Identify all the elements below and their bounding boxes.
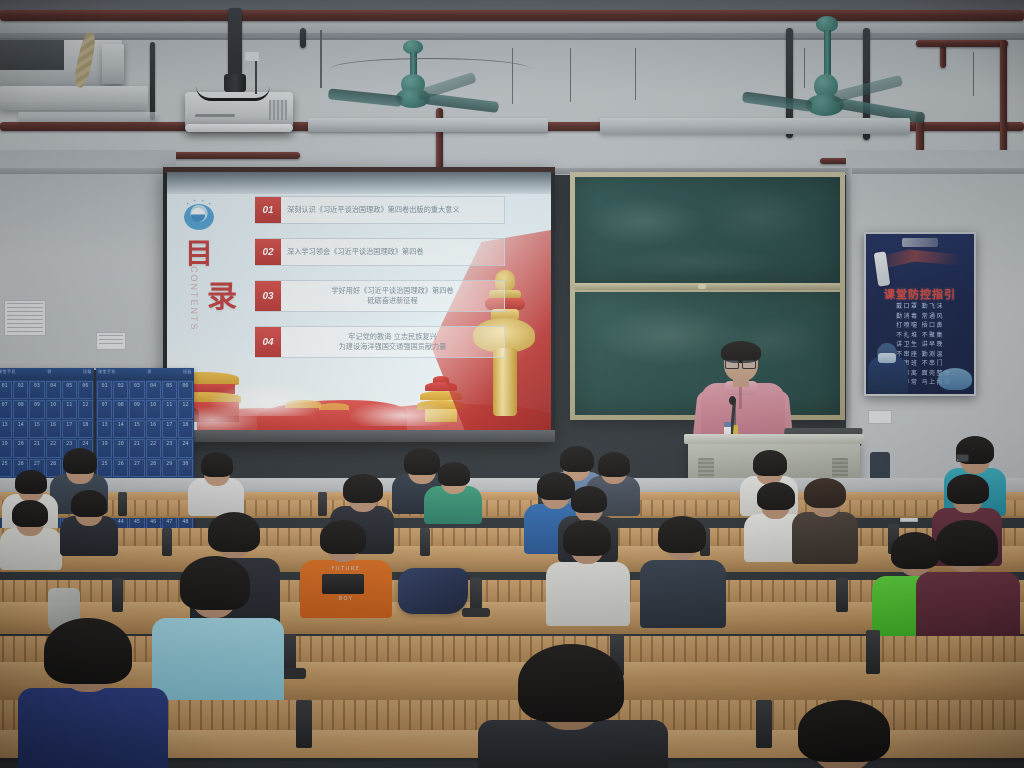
phone-pocket-cell[interactable]: 18 — [78, 420, 93, 438]
student-18-shirt-print — [322, 574, 364, 594]
student-05-hair — [438, 462, 470, 486]
lamp-hanger-3 — [635, 48, 636, 100]
student-01-hair — [63, 448, 97, 474]
student-11 — [60, 490, 118, 550]
seat-post-r5-2 — [756, 700, 772, 748]
pocket-header-right-text: 班级 — [183, 369, 192, 375]
student-05 — [424, 462, 482, 518]
toc-item-02: 02 深入学习领会《习近平谈治国理政》第四卷 — [255, 238, 505, 266]
phone-pocket-cell[interactable]: 20 — [13, 439, 28, 457]
lecturer-shirt-placket — [739, 387, 742, 409]
university-emblem: ✦ ✦ ✦ ✦ — [181, 198, 215, 232]
lamp-hanger-2 — [570, 48, 571, 102]
pocket-header-right-text: 班级 — [83, 369, 92, 375]
seat-post-r4-3 — [866, 630, 880, 674]
notice-text-lines — [99, 335, 123, 347]
emblem-star-3: ✦ — [201, 199, 204, 202]
eyeglasses-icon — [725, 360, 756, 367]
phone-pocket-cell[interactable]: 04 — [46, 381, 61, 399]
cloud-wisp-2 — [347, 400, 457, 426]
toc-number-01: 01 — [255, 197, 281, 223]
phone-pocket-cell[interactable]: 14 — [113, 420, 128, 438]
student-18: FUTURE BOY — [300, 520, 392, 610]
toc-number-03: 03 — [255, 281, 281, 311]
lamp-hanger-5 — [973, 52, 974, 96]
phone-pocket-cell[interactable]: 11 — [62, 400, 77, 418]
student-25-body — [18, 688, 168, 768]
phone-pocket-cell[interactable]: 16 — [146, 420, 161, 438]
chalk-smudge-2 — [705, 187, 815, 247]
phone-pocket-cell[interactable]: 07 — [97, 400, 112, 418]
phone-pocket-cell[interactable]: 05 — [62, 381, 77, 399]
phone-pocket-cell[interactable]: 12 — [178, 400, 193, 418]
pocket-header-center-text: 袋 — [147, 369, 152, 375]
student-21 — [640, 516, 726, 620]
student-14-hair — [571, 486, 607, 513]
poster-line-1: 戴口罩 勤飞沫 — [866, 302, 974, 312]
toc-text-02: 深入学习领会《习近平谈治国理政》第四卷 — [281, 247, 504, 257]
phone-pocket-cell[interactable]: 15 — [129, 420, 144, 438]
seat-post-r5-1 — [296, 700, 312, 748]
student-23 — [916, 520, 1020, 650]
wall-left — [0, 150, 176, 370]
student-25-hair — [44, 618, 132, 684]
student-24-hair — [180, 556, 250, 610]
wall-notice-2 — [96, 332, 126, 350]
student-16-body — [792, 512, 858, 564]
projection-screen[interactable]: ✦ ✦ ✦ ✦ 目 录 CONTENTS 01 深刻认识《习近平谈治国理政》第四… — [163, 167, 555, 442]
sprinkler-pipe-top — [0, 10, 1024, 21]
phone-pocket-cell[interactable]: 13 — [0, 420, 12, 438]
pocket-board-header-text: 课堂手机 袋 班级 — [98, 369, 192, 375]
phone-pocket-cell[interactable]: 26 — [113, 459, 128, 477]
fluorescent-lamp-3 — [18, 112, 158, 122]
student-21-body — [640, 560, 726, 628]
poster-line-2: 勤消毒 常通风 — [866, 312, 974, 322]
student-16 — [792, 478, 858, 560]
poster-title: 课堂防控指引 — [866, 286, 974, 302]
student-26 — [478, 644, 668, 768]
pipe-drop-4 — [1000, 40, 1007, 168]
masked-person-graphic — [868, 338, 908, 394]
phone-pocket-cell[interactable]: 04 — [146, 381, 161, 399]
wall-notice-1 — [4, 300, 46, 336]
toc-item-04: 04 牢记党的教诲 立志民族复兴 为建设海洋强国交通强国贡献力量 — [255, 326, 505, 358]
fluorescent-lamp-2 — [600, 118, 910, 134]
podium-microphone-head — [729, 396, 736, 405]
phone-pocket-cell[interactable]: 19 — [0, 439, 12, 457]
pocket-header-left-text: 课堂手机 — [98, 369, 116, 375]
water-bottle-cap — [724, 422, 731, 427]
phone-pocket-cell[interactable]: 17 — [162, 420, 177, 438]
phone-pocket-cell[interactable]: 13 — [97, 420, 112, 438]
student-19-hair — [208, 512, 260, 552]
emblem-inner-mark — [191, 208, 205, 222]
slide-toc-list: 01 深刻认识《习近平谈治国理政》第四卷出版的重大意义 02 深入学习领会《习近… — [255, 196, 505, 372]
eyeglass-lens-left — [725, 360, 739, 369]
student-09-glasses-icon — [956, 454, 969, 462]
student-10-hair — [12, 500, 48, 527]
phone-pocket-cell[interactable]: 09 — [129, 400, 144, 418]
phone-pocket-cell[interactable]: 15 — [29, 420, 44, 438]
student-20-body — [546, 562, 630, 626]
lamp-hanger-1 — [512, 48, 513, 104]
pocket-board-header-text: 课堂手机 袋 班级 — [0, 369, 92, 375]
covid-prevention-poster: 课堂防控指引 戴口罩 勤飞沫 勤消毒 常通风 打喷嚏 捂口鼻 不扎堆 不聚集 讲… — [864, 232, 976, 396]
drop-wire-a — [320, 30, 322, 88]
toc-item-01: 01 深刻认识《习近平谈治国理政》第四卷出版的重大意义 — [255, 196, 505, 224]
phone-pocket-cell[interactable]: 21 — [129, 439, 144, 457]
seat-post-r1-2 — [318, 492, 327, 516]
phone-pocket-cell[interactable]: 08 — [13, 400, 28, 418]
phone-pocket-cell[interactable]: 09 — [29, 400, 44, 418]
phone-pocket-cell[interactable]: 23 — [162, 439, 177, 457]
phone-pocket-cell[interactable]: 02 — [113, 381, 128, 399]
toc-number-04: 04 — [255, 327, 281, 357]
phone-pocket-cell[interactable]: 21 — [29, 439, 44, 457]
phone-pocket-cell[interactable]: 01 — [97, 381, 112, 399]
phone-pocket-cell[interactable]: 20 — [113, 439, 128, 457]
toc-item-03: 03 学好用好《习近平谈治国理政》第四卷 砥砺奋进新征程 — [255, 280, 505, 312]
pipe-branch — [916, 40, 1008, 47]
lecturer — [697, 343, 789, 447]
projector-seam — [195, 114, 235, 117]
eyeglass-lens-right — [742, 360, 756, 369]
seat-post-r3-2 — [470, 578, 482, 612]
phone-pocket-cell[interactable]: 03 — [29, 381, 44, 399]
backrest-slats — [0, 528, 1024, 546]
chair-backrest — [870, 452, 890, 480]
phone-pocket-cell[interactable]: 05 — [162, 381, 177, 399]
conduit-1 — [300, 28, 306, 48]
folded-navy-jacket — [398, 568, 468, 614]
student-16-hair — [804, 478, 846, 508]
student-20-hair — [563, 520, 611, 556]
blackboard-slide-handle — [698, 284, 706, 289]
pocket-board-header-left: 课堂手机 袋 班级 — [0, 368, 94, 380]
phone-pocket-cell[interactable]: 17 — [62, 420, 77, 438]
emblem-star-4: ✦ — [208, 202, 211, 205]
student-03 — [188, 452, 244, 512]
student-10 — [0, 500, 62, 564]
student-18-shirt-text-bottom: BOY — [300, 596, 392, 602]
student-08-hair — [753, 450, 787, 476]
phone-pocket-cell[interactable]: 18 — [178, 420, 193, 438]
projector-vent — [269, 100, 287, 120]
student-23-hair — [936, 520, 998, 566]
phone-pocket-cell[interactable]: 06 — [78, 381, 93, 399]
chalk-smudge-3 — [605, 247, 785, 277]
toc-text-01: 深刻认识《习近平谈治国理政》第四卷出版的重大意义 — [281, 205, 504, 215]
notice-text-lines — [7, 303, 43, 333]
lamp-hanger-4 — [804, 48, 805, 88]
phone-pocket-cell[interactable]: 27 — [129, 459, 144, 477]
presentation-slide: ✦ ✦ ✦ ✦ 目 录 CONTENTS 01 深刻认识《习近平谈治国理政》第四… — [167, 172, 551, 430]
screen-bottom-bar — [163, 430, 555, 442]
student-03-hair — [201, 452, 233, 477]
seat-post-cap-r3 — [462, 608, 490, 617]
phone-pocket-cell[interactable]: 14 — [13, 420, 28, 438]
student-15-hair — [757, 482, 795, 510]
student-07-hair — [598, 452, 630, 477]
seat-post-r2-2 — [420, 528, 430, 556]
phone-pocket-cell[interactable]: 11 — [162, 400, 177, 418]
wall-notice-3 — [868, 410, 892, 424]
pocket-header-left-text: 课堂手机 — [0, 369, 16, 375]
student-18-shirt-text-top: FUTURE — [300, 566, 392, 572]
seat-post-r3-1 — [112, 578, 123, 612]
student-26-hair — [518, 644, 624, 722]
emblem-star-1: ✦ — [186, 202, 189, 205]
backrest-slats — [0, 500, 1024, 516]
toc-text-03: 学好用好《习近平谈治国理政》第四卷 砥砺奋进新征程 — [281, 286, 504, 307]
poster-line-3: 打喷嚏 捂口鼻 — [866, 321, 974, 331]
slide-heading-cn-2: 录 — [207, 272, 237, 316]
student-27-hair — [798, 700, 890, 762]
phone-pocket-cell[interactable]: 02 — [13, 381, 28, 399]
slide-top-shading — [167, 172, 551, 194]
phone-pocket-cell[interactable]: 12 — [78, 400, 93, 418]
slide-heading: 目 录 CONTENTS — [181, 232, 247, 344]
student-11-hair — [71, 490, 107, 517]
lecture-hall-photo: ✦ ✦ ✦ ✦ 目 录 CONTENTS 01 深刻认识《习近平谈治国理政》第四… — [0, 0, 1024, 768]
air-conditioner-side — [102, 44, 124, 84]
poster-school-logo — [902, 238, 938, 247]
phone-pocket-cell[interactable]: 03 — [129, 381, 144, 399]
seat-post-r2-1 — [162, 528, 172, 556]
student-25 — [18, 618, 168, 768]
student-02-hair — [15, 470, 47, 494]
phone-pocket-cell[interactable]: 10 — [146, 400, 161, 418]
student-17-hair — [947, 474, 989, 504]
slide-heading-en: CONTENTS — [189, 266, 199, 332]
seat-post-r1-1 — [118, 492, 127, 516]
phone-pocket-cell[interactable]: 01 — [0, 381, 12, 399]
student-18-hair — [320, 520, 366, 554]
air-conditioner-vent — [0, 40, 64, 70]
student-20 — [546, 520, 630, 620]
backrest-row-1 — [0, 500, 1024, 516]
projector-base — [185, 124, 293, 132]
chalk-smudge-1 — [585, 197, 705, 247]
backrest-row-2 — [0, 528, 1024, 546]
pocket-header-center-text: 袋 — [47, 369, 52, 375]
phone-pocket-cell[interactable]: 06 — [178, 381, 193, 399]
blackboard-panel-upper — [575, 177, 840, 283]
phone-pocket-cell[interactable]: 07 — [0, 400, 12, 418]
phone-pocket-cell[interactable]: 16 — [46, 420, 61, 438]
student-12-hair — [343, 474, 383, 503]
pocket-board-header-right: 课堂手机 袋 班级 — [96, 368, 194, 380]
student-27 — [780, 700, 910, 768]
conduit-4 — [150, 42, 155, 120]
student-21-hair — [658, 516, 706, 553]
fluorescent-lamp-1 — [308, 118, 548, 132]
student-24 — [152, 556, 284, 716]
phone-pocket-cell[interactable]: 10 — [46, 400, 61, 418]
phone-pocket-cell[interactable]: 08 — [113, 400, 128, 418]
phone-pocket-cell[interactable]: 22 — [146, 439, 161, 457]
seat-post-r3-3 — [836, 578, 848, 612]
phone-pocket-cell[interactable]: 28 — [146, 459, 161, 477]
toc-number-02: 02 — [255, 239, 281, 265]
blackboard-rail — [575, 283, 840, 290]
face-mask-photo — [938, 368, 972, 390]
phone-pocket-cell[interactable]: 29 — [162, 459, 177, 477]
ceiling-fan-right-downrod — [824, 30, 831, 78]
toc-text-04: 牢记党的教诲 立志民族复兴 为建设海洋强国交通强国贡献力量 — [281, 332, 504, 353]
projector-cable — [196, 86, 270, 101]
ceiling-outlet — [245, 52, 259, 61]
air-conditioner-tray — [0, 86, 148, 110]
emblem-star-2: ✦ — [193, 199, 196, 202]
face-mask-icon — [878, 353, 896, 363]
podium-top-surface — [684, 434, 864, 444]
